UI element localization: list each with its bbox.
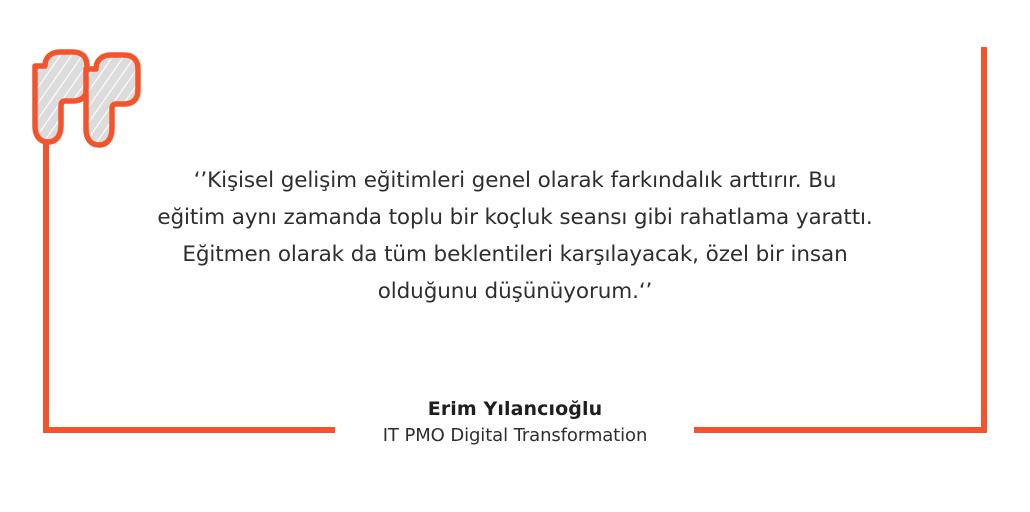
author-role: IT PMO Digital Transformation — [335, 422, 695, 450]
frame-right-vertical-rule — [981, 47, 987, 433]
testimonial-card: ‘’Kişisel gelişim eğitimleri genel olara… — [0, 0, 1030, 512]
frame-left-vertical-rule — [43, 118, 49, 433]
frame-bottom-right-rule — [694, 427, 987, 433]
attribution: Erim Yılancıoğlu IT PMO Digital Transfor… — [335, 396, 695, 450]
quotation-mark-icon — [26, 48, 144, 148]
quote-text: ‘’Kişisel gelişim eğitimleri genel olara… — [140, 162, 890, 310]
frame-bottom-left-rule — [43, 427, 335, 433]
quote-line: olduğunu düşünüyorum.‘’ — [140, 273, 890, 310]
quote-line: Eğitmen olarak da tüm beklentileri karşı… — [140, 236, 890, 273]
author-name: Erim Yılancıoğlu — [335, 396, 695, 422]
quote-line: ‘’Kişisel gelişim eğitimleri genel olara… — [140, 162, 890, 199]
quote-line: eğitim aynı zamanda toplu bir koçluk sea… — [140, 199, 890, 236]
